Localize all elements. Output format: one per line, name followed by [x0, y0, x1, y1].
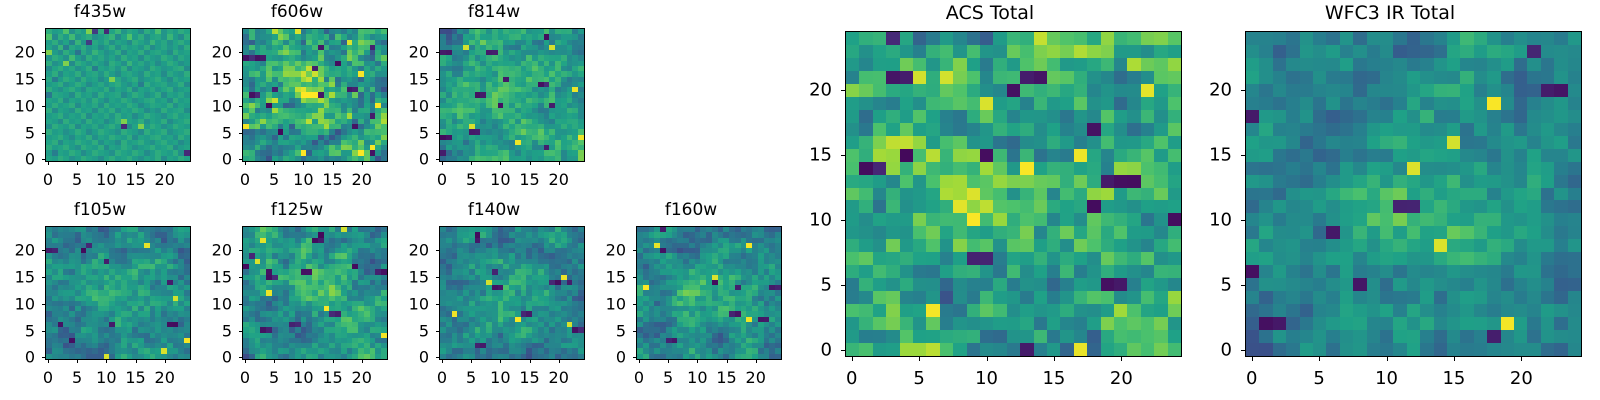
y-tick-mark	[239, 79, 242, 80]
y-tick-label: 15	[394, 267, 429, 286]
y-tick-mark	[239, 304, 242, 305]
y-tick-label: 10	[0, 294, 35, 313]
x-tick-label: 15	[519, 170, 539, 189]
y-tick-label: 20	[394, 241, 429, 260]
panel-f435w: f435w 0510152005101520	[0, 2, 200, 192]
x-tick-label: 0	[846, 368, 857, 389]
x-tick-label: 15	[1442, 368, 1465, 389]
y-tick-mark	[436, 250, 439, 251]
y-tick-label: 5	[197, 123, 232, 142]
x-tick-mark	[1252, 357, 1253, 361]
x-tick-mark	[106, 162, 107, 165]
y-tick-mark	[42, 106, 45, 107]
y-tick-label: 5	[1190, 275, 1232, 296]
x-tick-label: 20	[1110, 368, 1133, 389]
y-tick-mark	[42, 250, 45, 251]
x-tick-label: 5	[466, 170, 476, 189]
y-tick-mark	[841, 285, 845, 286]
y-tick-label: 10	[394, 96, 429, 115]
x-tick-label: 10	[96, 368, 116, 387]
y-tick-mark	[633, 331, 636, 332]
x-tick-label: 15	[1042, 368, 1065, 389]
x-tick-mark	[48, 360, 49, 363]
y-tick-label: 20	[0, 241, 35, 260]
panel-wfc3-ir-total: WFC3 IR Total 0510152005101520	[1190, 2, 1590, 398]
heatmap-f606w[interactable]	[242, 28, 388, 162]
y-tick-mark	[42, 304, 45, 305]
x-tick-mark	[165, 162, 166, 165]
x-tick-mark	[303, 360, 304, 363]
y-tick-label: 0	[197, 150, 232, 169]
y-tick-label: 0	[1190, 340, 1232, 361]
y-tick-label: 15	[394, 69, 429, 88]
x-tick-label: 5	[269, 368, 279, 387]
x-tick-mark	[697, 360, 698, 363]
x-tick-mark	[442, 360, 443, 363]
x-tick-label: 5	[72, 368, 82, 387]
heatmap-f160w[interactable]	[636, 226, 782, 360]
x-tick-label: 20	[549, 368, 569, 387]
y-tick-mark	[42, 79, 45, 80]
x-tick-label: 5	[466, 368, 476, 387]
x-tick-mark	[987, 357, 988, 361]
panel-f140w: f140w 0510152005101520	[394, 200, 594, 390]
y-tick-mark	[436, 159, 439, 160]
x-tick-label: 0	[240, 368, 250, 387]
x-tick-mark	[245, 360, 246, 363]
x-tick-label: 15	[519, 368, 539, 387]
x-tick-label: 5	[913, 368, 924, 389]
x-tick-mark	[333, 162, 334, 165]
y-tick-label: 15	[197, 69, 232, 88]
y-tick-label: 0	[0, 348, 35, 367]
x-tick-mark	[471, 360, 472, 363]
x-tick-mark	[136, 360, 137, 363]
y-tick-label: 0	[0, 150, 35, 169]
heatmap-f814w[interactable]	[439, 28, 585, 162]
y-tick-mark	[239, 277, 242, 278]
x-tick-mark	[77, 162, 78, 165]
heatmap-cells-f814w	[440, 29, 584, 161]
x-tick-mark	[48, 162, 49, 165]
heatmap-f105w[interactable]	[45, 226, 191, 360]
x-tick-mark	[1521, 357, 1522, 361]
y-tick-label: 10	[591, 294, 626, 313]
y-tick-label: 5	[394, 123, 429, 142]
y-tick-mark	[42, 159, 45, 160]
x-tick-mark	[530, 360, 531, 363]
x-tick-label: 20	[549, 170, 569, 189]
y-tick-mark	[42, 133, 45, 134]
panel-title-f814w: f814w	[394, 2, 594, 22]
y-tick-label: 10	[394, 294, 429, 313]
x-tick-label: 10	[490, 368, 510, 387]
panel-f606w: f606w 0510152005101520	[197, 2, 397, 192]
y-tick-mark	[436, 304, 439, 305]
y-tick-mark	[42, 331, 45, 332]
panel-title-acs-total: ACS Total	[790, 2, 1190, 24]
y-tick-mark	[841, 155, 845, 156]
panel-title-f160w: f160w	[591, 200, 791, 220]
panel-f125w: f125w 0510152005101520	[197, 200, 397, 390]
x-tick-mark	[362, 360, 363, 363]
x-tick-label: 20	[352, 170, 372, 189]
x-tick-label: 0	[43, 170, 53, 189]
x-tick-label: 10	[687, 368, 707, 387]
x-tick-mark	[530, 162, 531, 165]
x-tick-label: 20	[1510, 368, 1533, 389]
heatmap-cells-f140w	[440, 227, 584, 359]
x-tick-label: 20	[746, 368, 766, 387]
x-tick-label: 0	[437, 170, 447, 189]
x-tick-mark	[1319, 357, 1320, 361]
x-tick-mark	[1387, 357, 1388, 361]
y-tick-label: 10	[790, 210, 832, 231]
x-tick-mark	[442, 162, 443, 165]
y-tick-label: 15	[1190, 144, 1232, 165]
y-tick-label: 5	[394, 321, 429, 340]
heatmap-cells-acs-total	[846, 32, 1181, 356]
y-tick-label: 5	[790, 275, 832, 296]
y-tick-mark	[239, 331, 242, 332]
y-tick-mark	[841, 350, 845, 351]
y-tick-mark	[42, 52, 45, 53]
y-tick-mark	[436, 331, 439, 332]
y-tick-mark	[436, 277, 439, 278]
y-tick-mark	[633, 304, 636, 305]
y-tick-mark	[1241, 285, 1245, 286]
y-tick-label: 10	[197, 294, 232, 313]
heatmap-cells-wfc3-ir-total	[1246, 32, 1581, 356]
panel-title-f105w: f105w	[0, 200, 200, 220]
panel-acs-total: ACS Total 0510152005101520	[790, 2, 1190, 398]
y-tick-label: 20	[394, 43, 429, 62]
y-tick-mark	[633, 357, 636, 358]
y-tick-mark	[436, 357, 439, 358]
panel-f814w: f814w 0510152005101520	[394, 2, 594, 192]
x-tick-label: 20	[155, 170, 175, 189]
x-tick-label: 15	[322, 368, 342, 387]
x-tick-label: 0	[240, 170, 250, 189]
y-tick-label: 15	[591, 267, 626, 286]
heatmap-cells-f105w	[46, 227, 190, 359]
x-tick-label: 5	[663, 368, 673, 387]
panel-title-f125w: f125w	[197, 200, 397, 220]
y-tick-mark	[239, 250, 242, 251]
heatmap-cells-f606w	[243, 29, 387, 161]
panel-title-f140w: f140w	[394, 200, 594, 220]
heatmap-wfc3-ir-total[interactable]	[1245, 31, 1582, 357]
panel-f160w: f160w 0510152005101520	[591, 200, 791, 390]
x-tick-label: 10	[1375, 368, 1398, 389]
x-tick-label: 5	[72, 170, 82, 189]
y-tick-label: 5	[591, 321, 626, 340]
x-tick-label: 0	[437, 368, 447, 387]
x-tick-label: 5	[1313, 368, 1324, 389]
x-tick-mark	[106, 360, 107, 363]
x-tick-label: 20	[155, 368, 175, 387]
x-tick-mark	[727, 360, 728, 363]
y-tick-mark	[239, 357, 242, 358]
y-tick-mark	[436, 106, 439, 107]
y-tick-mark	[436, 52, 439, 53]
y-tick-label: 10	[1190, 210, 1232, 231]
x-tick-mark	[77, 360, 78, 363]
y-tick-mark	[239, 52, 242, 53]
heatmap-f125w[interactable]	[242, 226, 388, 360]
x-tick-mark	[165, 360, 166, 363]
y-tick-label: 20	[591, 241, 626, 260]
y-tick-label: 20	[0, 43, 35, 62]
x-tick-mark	[852, 357, 853, 361]
y-tick-mark	[239, 159, 242, 160]
y-tick-label: 0	[394, 348, 429, 367]
y-tick-label: 15	[0, 69, 35, 88]
x-tick-mark	[1054, 357, 1055, 361]
y-tick-label: 10	[197, 96, 232, 115]
x-tick-mark	[136, 162, 137, 165]
y-tick-mark	[1241, 90, 1245, 91]
x-tick-mark	[639, 360, 640, 363]
y-tick-label: 15	[0, 267, 35, 286]
y-tick-label: 5	[197, 321, 232, 340]
x-tick-mark	[1121, 357, 1122, 361]
x-tick-label: 10	[490, 170, 510, 189]
x-tick-mark	[274, 162, 275, 165]
x-tick-label: 5	[269, 170, 279, 189]
heatmap-f140w[interactable]	[439, 226, 585, 360]
panel-title-f606w: f606w	[197, 2, 397, 22]
x-tick-mark	[756, 360, 757, 363]
x-tick-mark	[500, 162, 501, 165]
x-tick-label: 10	[293, 170, 313, 189]
y-tick-mark	[42, 277, 45, 278]
x-tick-mark	[274, 360, 275, 363]
y-tick-label: 20	[197, 241, 232, 260]
x-tick-label: 15	[716, 368, 736, 387]
y-tick-label: 0	[197, 348, 232, 367]
y-tick-label: 5	[0, 321, 35, 340]
y-tick-mark	[1241, 220, 1245, 221]
panel-title-wfc3-ir-total: WFC3 IR Total	[1190, 2, 1590, 24]
x-tick-label: 20	[352, 368, 372, 387]
panel-title-f435w: f435w	[0, 2, 200, 22]
y-tick-label: 0	[394, 150, 429, 169]
x-tick-mark	[303, 162, 304, 165]
x-tick-mark	[500, 360, 501, 363]
figure-canvas: f435w 0510152005101520 f606w 05101520051…	[0, 0, 1600, 400]
y-tick-mark	[1241, 155, 1245, 156]
x-tick-label: 0	[634, 368, 644, 387]
y-tick-mark	[633, 250, 636, 251]
y-tick-mark	[436, 133, 439, 134]
x-tick-mark	[471, 162, 472, 165]
y-tick-label: 20	[1190, 79, 1232, 100]
x-tick-mark	[559, 162, 560, 165]
panel-f105w: f105w 0510152005101520	[0, 200, 200, 390]
heatmap-f435w[interactable]	[45, 28, 191, 162]
y-tick-mark	[841, 90, 845, 91]
y-tick-mark	[239, 133, 242, 134]
x-tick-mark	[362, 162, 363, 165]
heatmap-acs-total[interactable]	[845, 31, 1182, 357]
y-tick-label: 15	[790, 144, 832, 165]
y-tick-label: 20	[197, 43, 232, 62]
y-tick-label: 0	[790, 340, 832, 361]
x-tick-label: 0	[1246, 368, 1257, 389]
x-tick-label: 15	[322, 170, 342, 189]
x-tick-label: 0	[43, 368, 53, 387]
x-tick-label: 10	[96, 170, 116, 189]
x-tick-label: 10	[293, 368, 313, 387]
y-tick-mark	[239, 106, 242, 107]
y-tick-label: 20	[790, 79, 832, 100]
y-tick-mark	[436, 79, 439, 80]
x-tick-label: 15	[125, 170, 145, 189]
y-tick-label: 0	[591, 348, 626, 367]
heatmap-cells-f435w	[46, 29, 190, 161]
heatmap-cells-f160w	[637, 227, 781, 359]
y-tick-label: 5	[0, 123, 35, 142]
x-tick-label: 15	[125, 368, 145, 387]
x-tick-mark	[333, 360, 334, 363]
x-tick-mark	[1454, 357, 1455, 361]
x-tick-mark	[245, 162, 246, 165]
x-tick-mark	[919, 357, 920, 361]
y-tick-mark	[42, 357, 45, 358]
x-tick-mark	[559, 360, 560, 363]
heatmap-cells-f125w	[243, 227, 387, 359]
y-tick-mark	[633, 277, 636, 278]
y-tick-label: 10	[0, 96, 35, 115]
x-tick-label: 10	[975, 368, 998, 389]
y-tick-label: 15	[197, 267, 232, 286]
y-tick-mark	[841, 220, 845, 221]
x-tick-mark	[668, 360, 669, 363]
y-tick-mark	[1241, 350, 1245, 351]
